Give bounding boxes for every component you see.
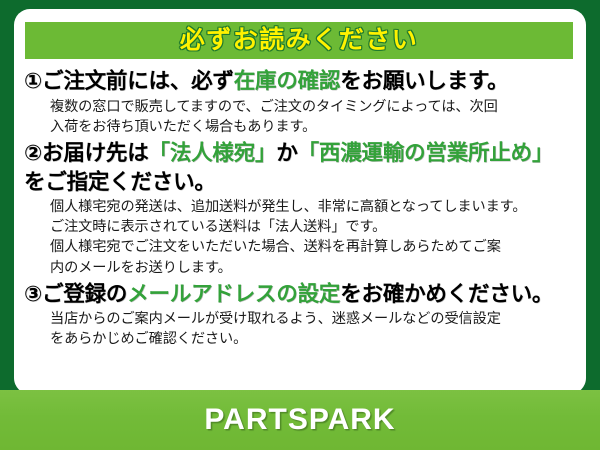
item-1-number: ① [24, 67, 42, 96]
item-2-head-before: お届け先は [42, 141, 149, 165]
item-3-head-highlight: メールアドレスの設定 [127, 280, 340, 309]
item-2-number: ② [24, 141, 42, 165]
notice-item-3-heading: ③ご登録のメールアドレスの設定をお確かめください。 [24, 280, 578, 309]
item-1-head-highlight: 在庫の確認 [234, 67, 341, 96]
notice-item-2-heading: ②お届け先は「法人様宛」か「西濃運輸の営業所止め」をご指定ください。 [24, 139, 578, 196]
item-3-number: ③ [24, 280, 42, 309]
notice-banner: 必ずお読みください ①ご注文前には、必ず在庫の確認をお願いします。 複数の窓口で… [0, 0, 600, 450]
item-2-head-quote-1: 「法人様宛」 [149, 141, 277, 165]
item-3-head-after: をお確かめください。 [340, 280, 553, 309]
item-2-head-after: をご指定ください。 [24, 170, 216, 194]
item-1-head-before: ご注文前には、必ず [42, 67, 234, 96]
notice-item-1-heading: ①ご注文前には、必ず在庫の確認をお願いします。 [24, 67, 578, 96]
item-2-head-mid: か [276, 141, 297, 165]
item-1-head-after: をお願いします。 [340, 67, 508, 96]
notice-card: 必ずお読みください ①ご注文前には、必ず在庫の確認をお願いします。 複数の窓口で… [14, 9, 586, 394]
notice-items-list: ①ご注文前には、必ず在庫の確認をお願いします。 複数の窓口で販売してますので、ご… [14, 67, 586, 352]
title-bar: 必ずお読みください [25, 22, 573, 59]
notice-item-1: ①ご注文前には、必ず在庫の確認をお願いします。 複数の窓口で販売してますので、ご… [24, 67, 578, 137]
notice-item-3: ③ご登録のメールアドレスの設定をお確かめください。 当店からのご案内メールが受け… [24, 280, 578, 350]
item-1-body-text: 複数の窓口で販売してますので、ご注文のタイミングによっては、次回 入荷をお待ち頂… [50, 97, 578, 137]
notice-item-2: ②お届け先は「法人様宛」か「西濃運輸の営業所止め」をご指定ください。 個人様宅宛… [24, 139, 578, 278]
item-2-body-text: 個人様宅宛の発送は、追加送料が発生し、非常に高額となってしまいます。 ご注文時に… [50, 197, 578, 278]
banner-title: 必ずお読みください [180, 28, 419, 53]
item-3-head-before: ご登録の [42, 280, 127, 309]
item-3-body-text: 当店からのご案内メールが受け取れるよう、迷惑メールなどの受信設定 をあらかじめご… [50, 309, 578, 349]
brand-name: PARTSPARK [204, 403, 395, 437]
item-2-head-quote-2: 「西濃運輸の営業所止め」 [298, 141, 554, 165]
brand-footer: PARTSPARK [0, 390, 600, 450]
